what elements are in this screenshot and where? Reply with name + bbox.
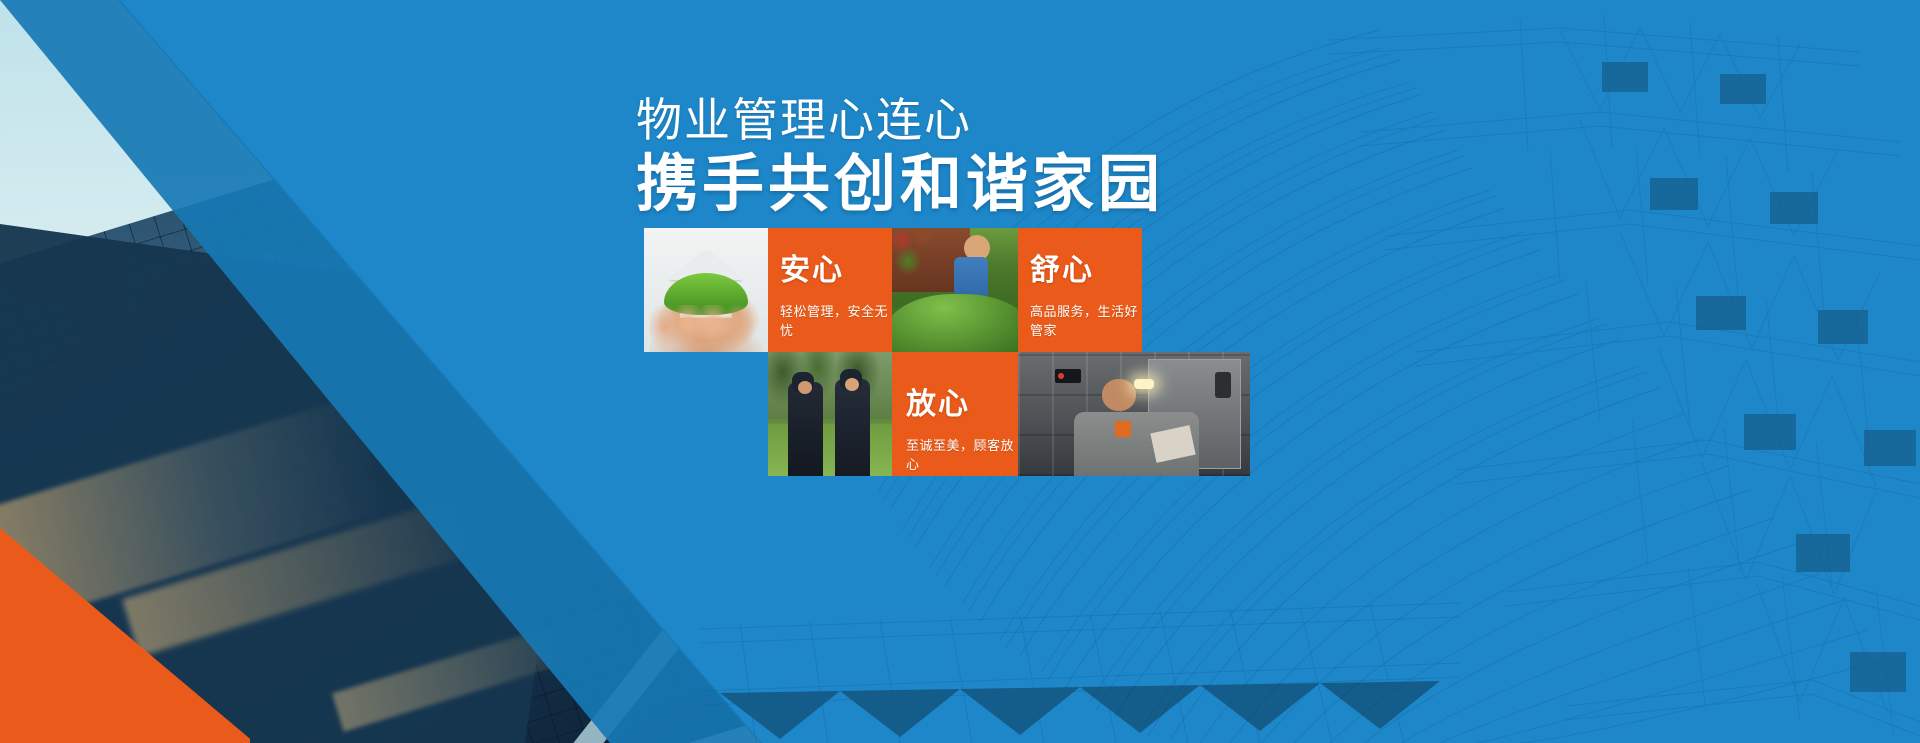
cabinet-handle <box>1215 372 1231 398</box>
photo-gardener <box>892 228 1018 352</box>
guard-face-left <box>798 381 812 394</box>
photo-security-guards <box>768 352 892 476</box>
uniform-badge <box>1115 421 1131 437</box>
card-shuxin[interactable]: 舒心 高品服务，生活好管家 <box>1018 228 1142 352</box>
guard-figure-left <box>788 382 823 476</box>
card-shuxin-title: 舒心 <box>1030 254 1142 287</box>
card-fangxin-desc: 至诚至美，顾客放心 <box>906 435 1018 473</box>
headline-group: 物业管理心连心 携手共创和谐家园 <box>636 96 1456 217</box>
card-shuxin-desc: 高品服务，生活好管家 <box>1030 301 1142 339</box>
guard-face-right <box>845 378 859 391</box>
photo-house-in-hands <box>644 228 768 352</box>
cupped-hands <box>649 305 763 352</box>
headline-subtitle: 物业管理心连心 <box>636 96 1456 146</box>
indicator-light <box>1055 369 1081 383</box>
hedge-bush <box>892 294 1018 352</box>
card-anxin-title: 安心 <box>780 254 892 287</box>
headline-title: 携手共创和谐家园 <box>636 152 1456 218</box>
card-fangxin-title: 放心 <box>906 388 1018 421</box>
park-trees <box>768 352 892 419</box>
promo-banner: 物业管理心连心 携手共创和谐家园 安心 轻松管理，安全无忧 舒心 高品服务，生活… <box>0 0 1920 743</box>
card-fangxin[interactable]: 放心 至诚至美，顾客放心 <box>892 352 1018 476</box>
park-lawn <box>768 424 892 476</box>
photo-electrician <box>1018 352 1250 476</box>
guard-figure-right <box>835 379 870 476</box>
electrician-head <box>1102 379 1136 411</box>
headlamp-icon <box>1134 379 1154 389</box>
card-anxin[interactable]: 安心 轻松管理，安全无忧 <box>768 228 892 352</box>
card-anxin-desc: 轻松管理，安全无忧 <box>780 301 892 339</box>
